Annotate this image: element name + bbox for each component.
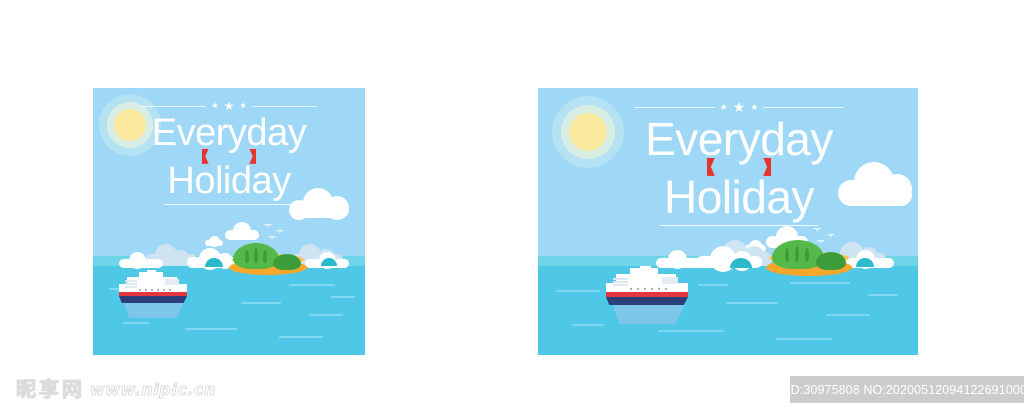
poster-headline: ★ ★ ★ Everyday is Holiday (634, 100, 844, 226)
star-icon: ★ (239, 102, 246, 110)
island-icon (229, 243, 307, 275)
cloud-icon (205, 236, 223, 246)
star-icon: ★ (211, 102, 218, 110)
headline-line-1: Everyday (141, 114, 317, 153)
cruise-ship-icon (604, 266, 696, 326)
headline-line-2: Holiday (141, 162, 317, 201)
poster-headline: ★ ★ ★ Everyday is Holiday (141, 100, 317, 205)
watermark-logo: 昵 享 网 (16, 378, 82, 400)
cloud-icon (696, 246, 762, 268)
asset-id-text: ID:30975808 NO:20200512094122691000 (787, 383, 1024, 397)
stars-divider: ★ ★ ★ (634, 100, 844, 114)
cloud-icon (119, 252, 163, 268)
star-icon: ★ (750, 103, 758, 112)
sea-background (538, 266, 918, 355)
stars-divider: ★ ★ ★ (141, 100, 317, 112)
poster-preview-large[interactable]: ★ ★ ★ Everyday is Holiday (538, 88, 918, 355)
sun-icon (552, 96, 624, 168)
cloud-icon (225, 222, 259, 240)
watermark-logo-char: 享 (39, 378, 59, 400)
headline-line-2: Holiday (634, 174, 844, 221)
asset-id-bar: ID:30975808 NO:20200512094122691000 (790, 376, 1024, 403)
watermark-logo-char: 昵 (16, 378, 36, 400)
cruise-ship-icon (117, 270, 193, 322)
star-icon: ★ (733, 100, 746, 114)
birds-icon (826, 234, 836, 238)
birds-icon (263, 224, 273, 228)
birds-icon (812, 228, 822, 232)
headline-line-1: Everyday (634, 116, 844, 163)
poster-preview-small[interactable]: ★ ★ ★ Everyday is Holiday (93, 88, 365, 355)
site-watermark: 昵 享 网 www.nipic.cn (16, 378, 216, 400)
headline-underline (164, 204, 294, 205)
star-icon: ★ (224, 100, 235, 112)
island-icon (766, 240, 852, 276)
cloud-icon (838, 162, 914, 208)
headline-underline (660, 225, 818, 226)
watermark-logo-char: 网 (62, 378, 82, 400)
watermark-url: www.nipic.cn (90, 380, 216, 399)
birds-icon (275, 230, 285, 234)
birds-icon (267, 236, 277, 240)
star-icon: ★ (720, 103, 728, 112)
